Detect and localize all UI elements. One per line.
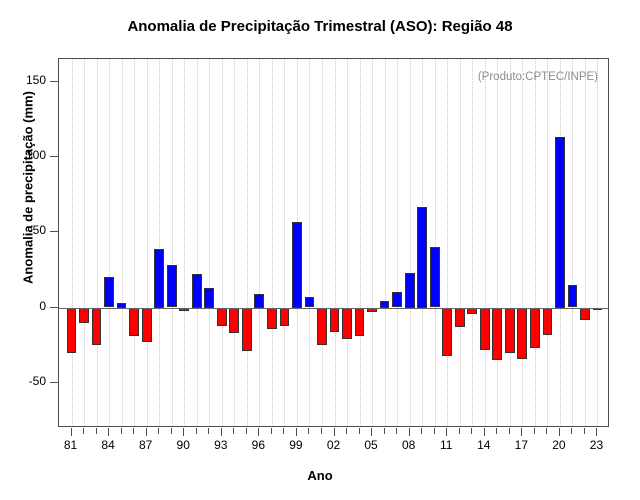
plot-area: (Produto:CPTEC/INPE) (58, 58, 609, 427)
bar (104, 277, 114, 307)
grid-line-vertical (460, 59, 462, 426)
x-axis-tick (484, 428, 485, 436)
x-axis-tick (171, 428, 172, 434)
x-axis-tick (121, 428, 122, 434)
x-axis-tick-label: 93 (208, 438, 234, 452)
x-axis-tick (283, 428, 284, 434)
y-axis-label: Anomalia de precipitação (mm) (21, 58, 36, 318)
x-axis-tick (334, 428, 335, 436)
grid-line-vertical (510, 59, 512, 426)
grid-line-vertical (259, 59, 261, 426)
bar (430, 247, 440, 307)
x-axis-tick (509, 428, 510, 434)
bar (517, 308, 527, 359)
x-axis-tick-label: 96 (245, 438, 271, 452)
x-axis-tick (183, 428, 184, 436)
bar (442, 308, 452, 356)
y-axis-tick (50, 156, 58, 157)
x-axis-tick-label: 87 (133, 438, 159, 452)
bar (543, 308, 553, 335)
grid-line-vertical (184, 59, 186, 426)
bar (355, 308, 365, 337)
grid-line-vertical (322, 59, 324, 426)
grid-line-vertical (109, 59, 111, 426)
grid-line-vertical (72, 59, 74, 426)
x-axis-tick (446, 428, 447, 436)
x-axis-tick (471, 428, 472, 434)
grid-line-vertical (234, 59, 236, 426)
bar (392, 292, 402, 307)
x-axis-tick-label: 02 (321, 438, 347, 452)
x-axis-tick (196, 428, 197, 434)
x-axis-tick (546, 428, 547, 434)
bar (242, 308, 252, 352)
x-axis-tick-label: 84 (95, 438, 121, 452)
bar (204, 288, 214, 308)
bar (492, 308, 502, 361)
grid-line-vertical (585, 59, 587, 426)
grid-line-vertical (410, 59, 412, 426)
grid-line-vertical (272, 59, 274, 426)
x-axis-tick (534, 428, 535, 434)
y-axis-tick-label: 0 (2, 299, 46, 313)
grid-lines (59, 59, 608, 426)
bar (280, 308, 290, 326)
grid-line-vertical (535, 59, 537, 426)
x-axis-tick (271, 428, 272, 434)
grid-line-vertical (597, 59, 599, 426)
x-axis-tick (409, 428, 410, 436)
x-axis-tick (559, 428, 560, 436)
x-axis-tick (434, 428, 435, 434)
grid-line-vertical (209, 59, 211, 426)
x-axis-tick (233, 428, 234, 434)
bar (254, 294, 264, 308)
x-axis-tick (258, 428, 259, 436)
x-axis-tick (571, 428, 572, 434)
x-axis-tick (321, 428, 322, 434)
x-axis-tick-label: 17 (508, 438, 534, 452)
grid-line-vertical (497, 59, 499, 426)
x-axis-tick (71, 428, 72, 436)
bar (67, 308, 77, 353)
grid-line-vertical (572, 59, 574, 426)
grid-line-vertical (134, 59, 136, 426)
grid-line-vertical (360, 59, 362, 426)
y-axis-tick-label: 50 (2, 223, 46, 237)
x-axis-tick (596, 428, 597, 436)
grid-line-vertical (222, 59, 224, 426)
bar (305, 297, 315, 308)
bar (167, 265, 177, 307)
grid-line-vertical (385, 59, 387, 426)
bar (405, 273, 415, 308)
bar (505, 308, 515, 353)
chart-root: Anomalia de Precipitação Trimestral (ASO… (0, 0, 640, 500)
y-axis-tick-label: 100 (2, 148, 46, 162)
x-axis-tick-label: 20 (546, 438, 572, 452)
bar (154, 249, 164, 308)
y-axis-tick (50, 231, 58, 232)
x-axis-tick-label: 23 (583, 438, 609, 452)
x-axis-tick (521, 428, 522, 436)
x-axis-tick-label: 14 (471, 438, 497, 452)
x-axis-tick (133, 428, 134, 434)
grid-line-vertical (122, 59, 124, 426)
x-axis-tick (296, 428, 297, 436)
grid-line-vertical (335, 59, 337, 426)
bar (217, 308, 227, 326)
bar (317, 308, 327, 346)
bar (342, 308, 352, 340)
bar (568, 285, 578, 308)
grid-line-vertical (372, 59, 374, 426)
grid-line-vertical (547, 59, 549, 426)
bar (480, 308, 490, 350)
bar (192, 274, 202, 307)
chart-title: Anomalia de Precipitação Trimestral (ASO… (0, 18, 640, 35)
y-axis-tick (50, 307, 58, 308)
x-axis-tick (384, 428, 385, 434)
grid-line-vertical (309, 59, 311, 426)
x-axis-tick (308, 428, 309, 434)
grid-line-vertical (472, 59, 474, 426)
grid-line-vertical (97, 59, 99, 426)
x-axis-tick-label: 81 (58, 438, 84, 452)
x-axis-tick (459, 428, 460, 434)
x-axis-tick (208, 428, 209, 434)
x-axis-tick (359, 428, 360, 434)
grid-line-vertical (197, 59, 199, 426)
x-axis-tick (346, 428, 347, 434)
bar (580, 308, 590, 320)
bar (79, 308, 89, 323)
y-axis-tick-label: -50 (2, 374, 46, 388)
bar (229, 308, 239, 334)
x-axis-tick (246, 428, 247, 434)
x-axis-label: Ano (0, 468, 640, 483)
x-axis-tick (396, 428, 397, 434)
x-axis-tick (584, 428, 585, 434)
bar (555, 137, 565, 307)
x-axis-tick (371, 428, 372, 436)
x-axis-tick (108, 428, 109, 436)
x-axis-tick (421, 428, 422, 434)
x-axis-tick-label: 11 (433, 438, 459, 452)
bar (330, 308, 340, 332)
grid-line-vertical (522, 59, 524, 426)
grid-line-vertical (447, 59, 449, 426)
grid-line-vertical (347, 59, 349, 426)
bar (455, 308, 465, 328)
bar (417, 207, 427, 308)
x-axis-tick-label: 08 (396, 438, 422, 452)
y-axis-tick (50, 81, 58, 82)
grid-line-vertical (397, 59, 399, 426)
y-axis-tick-label: 150 (2, 73, 46, 87)
x-axis-tick-label: 90 (170, 438, 196, 452)
grid-line-vertical (159, 59, 161, 426)
grid-line-vertical (147, 59, 149, 426)
x-axis-tick (221, 428, 222, 436)
bar (292, 222, 302, 308)
x-axis-tick-label: 05 (358, 438, 384, 452)
bar (142, 308, 152, 343)
grid-line-vertical (84, 59, 86, 426)
grid-line-vertical (485, 59, 487, 426)
y-axis-tick (50, 382, 58, 383)
grid-line-vertical (172, 59, 174, 426)
zero-line (59, 308, 608, 309)
x-axis-tick (83, 428, 84, 434)
x-axis-tick (496, 428, 497, 434)
grid-line-vertical (284, 59, 286, 426)
bar (129, 308, 139, 337)
source-annotation: (Produto:CPTEC/INPE) (478, 71, 598, 83)
bar (92, 308, 102, 346)
bar (530, 308, 540, 349)
grid-line-vertical (247, 59, 249, 426)
x-axis-tick (96, 428, 97, 434)
grid-line-vertical (435, 59, 437, 426)
bar (267, 308, 277, 329)
x-axis-tick-label: 99 (283, 438, 309, 452)
x-axis-tick (146, 428, 147, 436)
x-axis-tick (158, 428, 159, 434)
